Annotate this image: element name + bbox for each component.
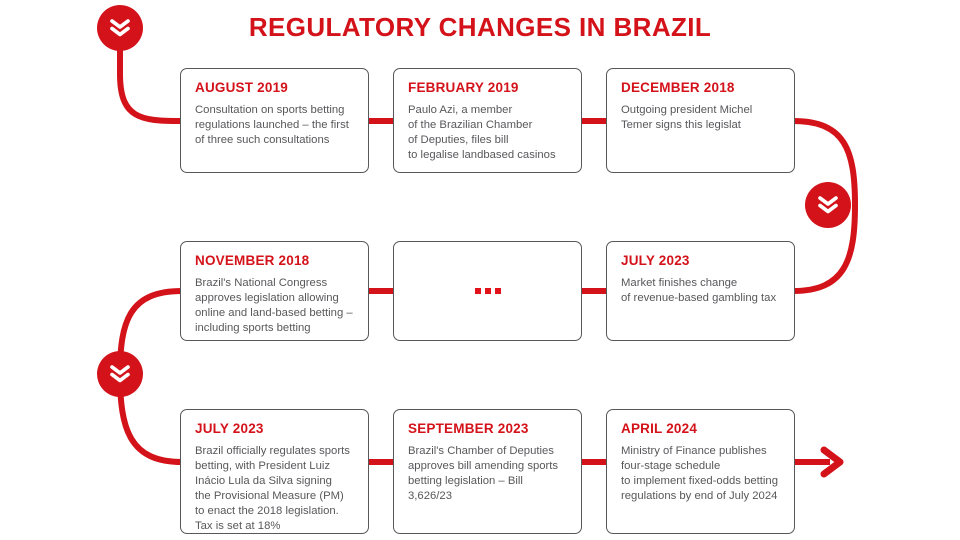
page-title: REGULATORY CHANGES IN BRAZIL — [0, 12, 960, 43]
card-body: Brazil's Chamber of Deputies approves bi… — [408, 444, 567, 504]
card-body: Paulo Azi, a member of the Brazilian Cha… — [408, 103, 567, 163]
timeline-card[interactable]: NOVEMBER 2018 Brazil's National Congress… — [180, 241, 369, 341]
card-body: Brazil's National Congress approves legi… — [195, 276, 354, 336]
row1-to-row2-chevron-badge[interactable] — [805, 182, 851, 228]
double-chevron-down-icon — [108, 18, 132, 38]
card-date: DECEMBER 2018 — [621, 81, 780, 96]
double-chevron-down-icon — [816, 195, 840, 215]
card-date: FEBRUARY 2019 — [408, 81, 567, 96]
ellipsis-icon — [475, 288, 501, 294]
card-body: Brazil officially regulates sports betti… — [195, 444, 354, 534]
card-date: NOVEMBER 2018 — [195, 254, 354, 269]
timeline-card[interactable]: JULY 2023 Market finishes change of reve… — [606, 241, 795, 341]
timeline-card[interactable]: FEBRUARY 2019 Paulo Azi, a member of the… — [393, 68, 582, 173]
card-date: APRIL 2024 — [621, 422, 780, 437]
timeline-card[interactable]: DECEMBER 2018 Outgoing president Michel … — [606, 68, 795, 173]
row2-to-row3-chevron-badge[interactable] — [97, 351, 143, 397]
card-body: Ministry of Finance publishes four-stage… — [621, 444, 780, 504]
end-arrow-icon — [793, 450, 840, 474]
timeline-card[interactable]: JULY 2023 Brazil officially regulates sp… — [180, 409, 369, 534]
timeline-card-placeholder[interactable] — [393, 241, 582, 341]
card-date: JULY 2023 — [621, 254, 780, 269]
card-date: JULY 2023 — [195, 422, 354, 437]
start-chevron-badge[interactable] — [97, 5, 143, 51]
timeline-card[interactable]: SEPTEMBER 2023 Brazil's Chamber of Deput… — [393, 409, 582, 534]
connector-start-curve — [120, 50, 180, 121]
timeline-card[interactable]: AUGUST 2019 Consultation on sports betti… — [180, 68, 369, 173]
card-date: SEPTEMBER 2023 — [408, 422, 567, 437]
card-body: Outgoing president Michel Temer signs th… — [621, 103, 780, 133]
double-chevron-down-icon — [108, 364, 132, 384]
infographic-canvas: REGULATORY CHANGES IN BRAZIL AUGUST 2019… — [0, 0, 960, 540]
timeline-card[interactable]: APRIL 2024 Ministry of Finance publishes… — [606, 409, 795, 534]
card-date: AUGUST 2019 — [195, 81, 354, 96]
card-body: Consultation on sports betting regulatio… — [195, 103, 354, 148]
card-body: Market finishes change of revenue-based … — [621, 276, 780, 306]
